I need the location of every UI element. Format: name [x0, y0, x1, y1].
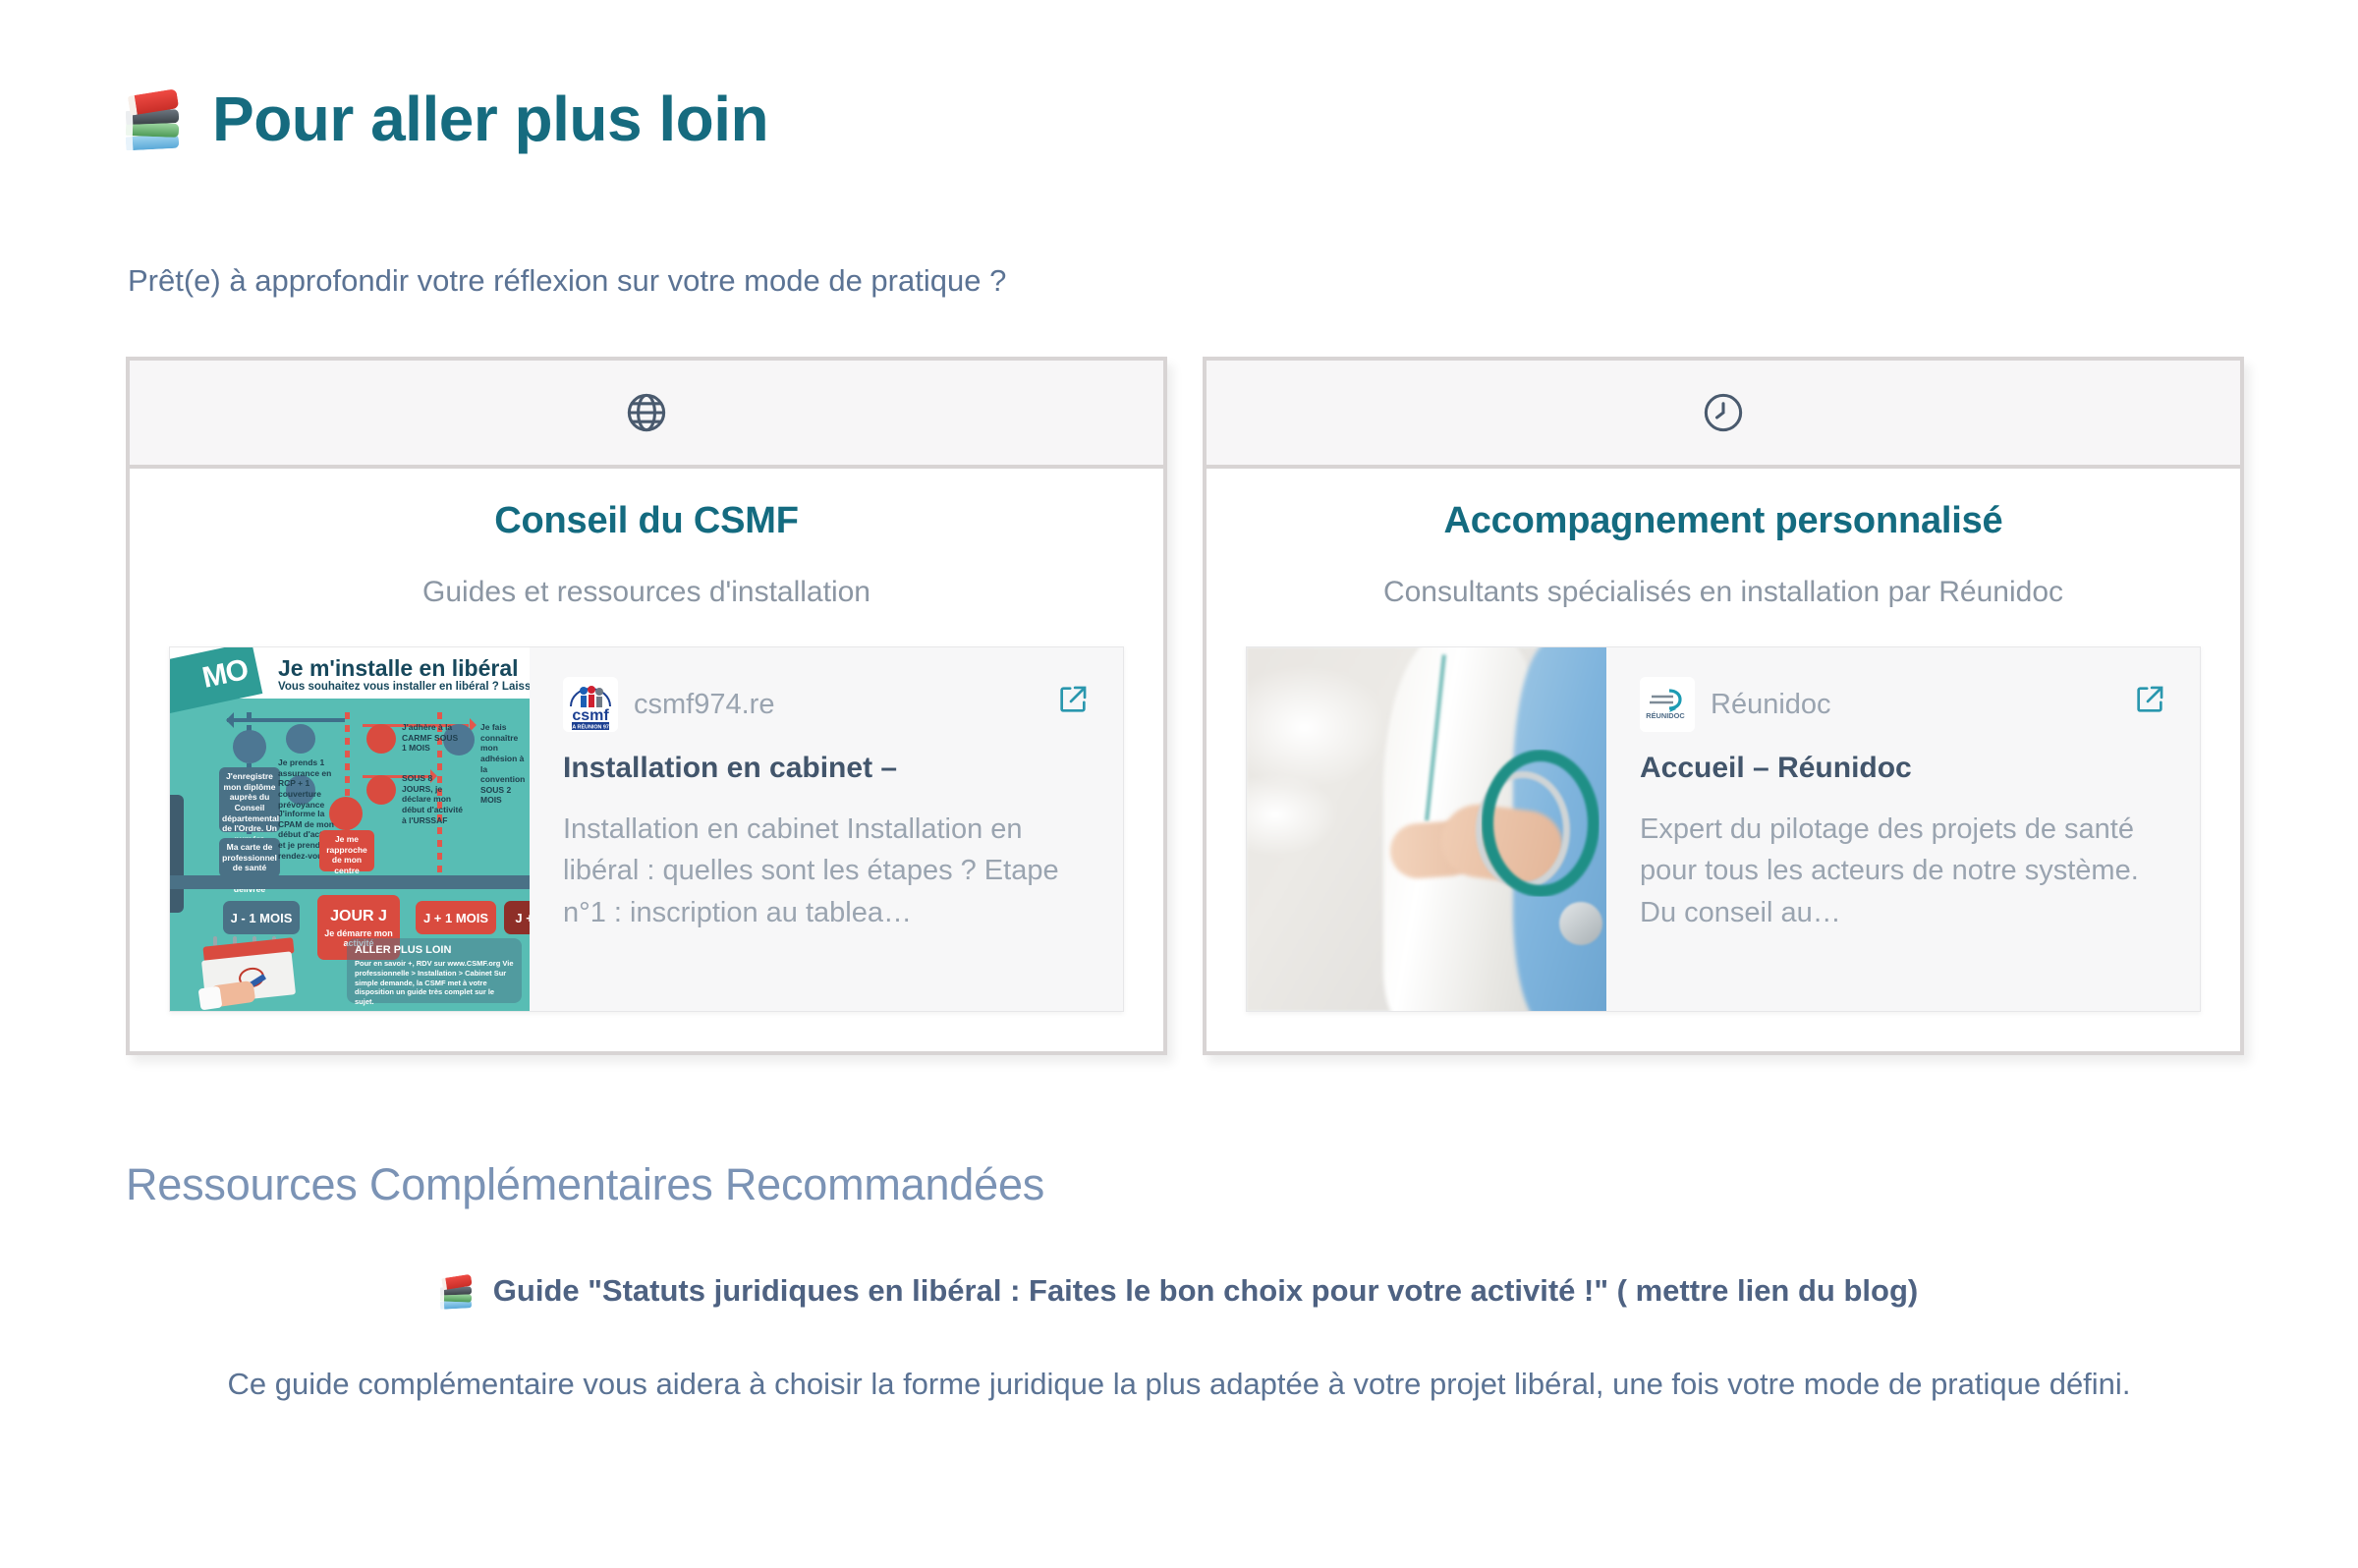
- svg-text:RÉUNIDOC: RÉUNIDOC: [1646, 711, 1685, 720]
- svg-text:csmf: csmf: [572, 707, 609, 724]
- infographic-node: Je me rapproche de mon centre d'impôts: [319, 830, 374, 871]
- infographic-timeline-label: JOUR J: [330, 908, 387, 925]
- closing-paragraph: Ce guide complémentaire vous aidera à ch…: [157, 1361, 2201, 1408]
- guide-link-row[interactable]: Guide "Statuts juridiques en libéral : F…: [0, 1272, 2358, 1310]
- card-subtitle: Consultants spécialisés en installation …: [1246, 576, 2201, 609]
- infographic-timeline-label: J + 2: [504, 901, 530, 934]
- infographic-node: Je prends 1 assurance en RCP + 1 couvert…: [278, 757, 343, 810]
- infographic-node: J'adhère à la CARMF SOUS 1 MOIS: [402, 722, 459, 754]
- books-emoji-icon: [126, 88, 191, 151]
- page-root: Pour aller plus loin Prêt(e) à approfond…: [0, 0, 2358, 1568]
- card-accompagnement-personnalise[interactable]: Accompagnement personnalisé Consultants …: [1203, 357, 2244, 1055]
- card-title: Accompagnement personnalisé: [1246, 500, 2201, 542]
- page-title: Pour aller plus loin: [126, 86, 768, 152]
- infographic-callout-body: Pour en savoir +, RDV sur www.CSMF.org V…: [355, 959, 514, 1007]
- infographic-callout: ALLER PLUS LOIN Pour en savoir +, RDV su…: [347, 938, 522, 1003]
- infographic-callout-title: ALLER PLUS LOIN: [355, 944, 514, 956]
- card-body-csmf: Conseil du CSMF Guides et ressources d'i…: [130, 469, 1163, 1051]
- link-preview-thumbnail: Je m'installe en libéral Vous souhaitez …: [170, 647, 530, 1011]
- link-preview-domain: csmf974.re: [634, 689, 774, 721]
- link-preview-thumbnail: [1247, 647, 1606, 1011]
- card-header-csmf: [130, 361, 1163, 469]
- infographic-heading: Je m'installe en libéral: [278, 655, 519, 682]
- link-preview-description: Installation en cabinet Installation en …: [563, 809, 1090, 935]
- svg-text:LA RÉUNION 974: LA RÉUNION 974: [569, 723, 612, 731]
- clock-icon: [1701, 390, 1746, 435]
- infographic-je-minstalle: Je m'installe en libéral Vous souhaitez …: [170, 647, 530, 1011]
- intro-text: Prêt(e) à approfondir votre réflexion su…: [128, 263, 1006, 299]
- link-preview-source: csmf LA RÉUNION 974 csmf974.re: [563, 677, 1090, 732]
- link-preview-title[interactable]: Installation en cabinet –: [563, 750, 1090, 787]
- infographic-node: J'enregistre mon diplôme auprès du Conse…: [219, 767, 280, 832]
- card-header-reunidoc: [1207, 361, 2240, 469]
- infographic-timeline-label: J - 1 MOIS: [223, 901, 300, 934]
- resource-cards: Conseil du CSMF Guides et ressources d'i…: [126, 357, 2244, 1055]
- csmf-logo-icon: csmf LA RÉUNION 974: [563, 677, 618, 732]
- link-preview-source: RÉUNIDOC Réunidoc: [1640, 677, 2166, 732]
- external-link-icon[interactable]: [2133, 683, 2166, 721]
- link-preview-info: RÉUNIDOC Réunidoc Accu: [1606, 647, 2200, 1011]
- infographic-node: SOUS 8 JOURS, je déclare mon début d'act…: [402, 773, 463, 825]
- card-title: Conseil du CSMF: [169, 500, 1124, 542]
- infographic-timeline-label: J + 1 MOIS: [416, 901, 496, 934]
- reunidoc-logo-icon: RÉUNIDOC: [1640, 677, 1695, 732]
- books-emoji-icon: [440, 1272, 477, 1310]
- link-preview-title[interactable]: Accueil – Réunidoc: [1640, 750, 2166, 787]
- card-body-reunidoc: Accompagnement personnalisé Consultants …: [1207, 469, 2240, 1051]
- infographic-subheading: Vous souhaitez vous installer en libéral…: [278, 681, 530, 693]
- infographic-node: Ma carte de professionnel de santé m'est…: [219, 838, 280, 877]
- link-preview-domain: Réunidoc: [1711, 689, 1831, 721]
- page-title-text: Pour aller plus loin: [212, 86, 768, 152]
- guide-link-text[interactable]: Guide "Statuts juridiques en libéral : F…: [493, 1273, 1918, 1309]
- external-link-icon[interactable]: [1056, 683, 1090, 721]
- card-subtitle: Guides et ressources d'installation: [169, 576, 1124, 609]
- link-preview-csmf[interactable]: Je m'installe en libéral Vous souhaitez …: [169, 646, 1124, 1012]
- card-conseil-csmf[interactable]: Conseil du CSMF Guides et ressources d'i…: [126, 357, 1167, 1055]
- medical-professionals-photo: [1247, 647, 1606, 1011]
- section-title-ressources: Ressources Complémentaires Recommandées: [126, 1159, 1044, 1210]
- globe-icon: [624, 390, 669, 435]
- calendar-illustration: [203, 934, 306, 1005]
- link-preview-info: csmf LA RÉUNION 974 csmf974.re: [530, 647, 1123, 1011]
- link-preview-description: Expert du pilotage des projets de santé …: [1640, 809, 2166, 935]
- link-preview-reunidoc[interactable]: RÉUNIDOC Réunidoc Accu: [1246, 646, 2201, 1012]
- infographic-node: Je fais connaître mon adhésion à la conv…: [480, 722, 530, 806]
